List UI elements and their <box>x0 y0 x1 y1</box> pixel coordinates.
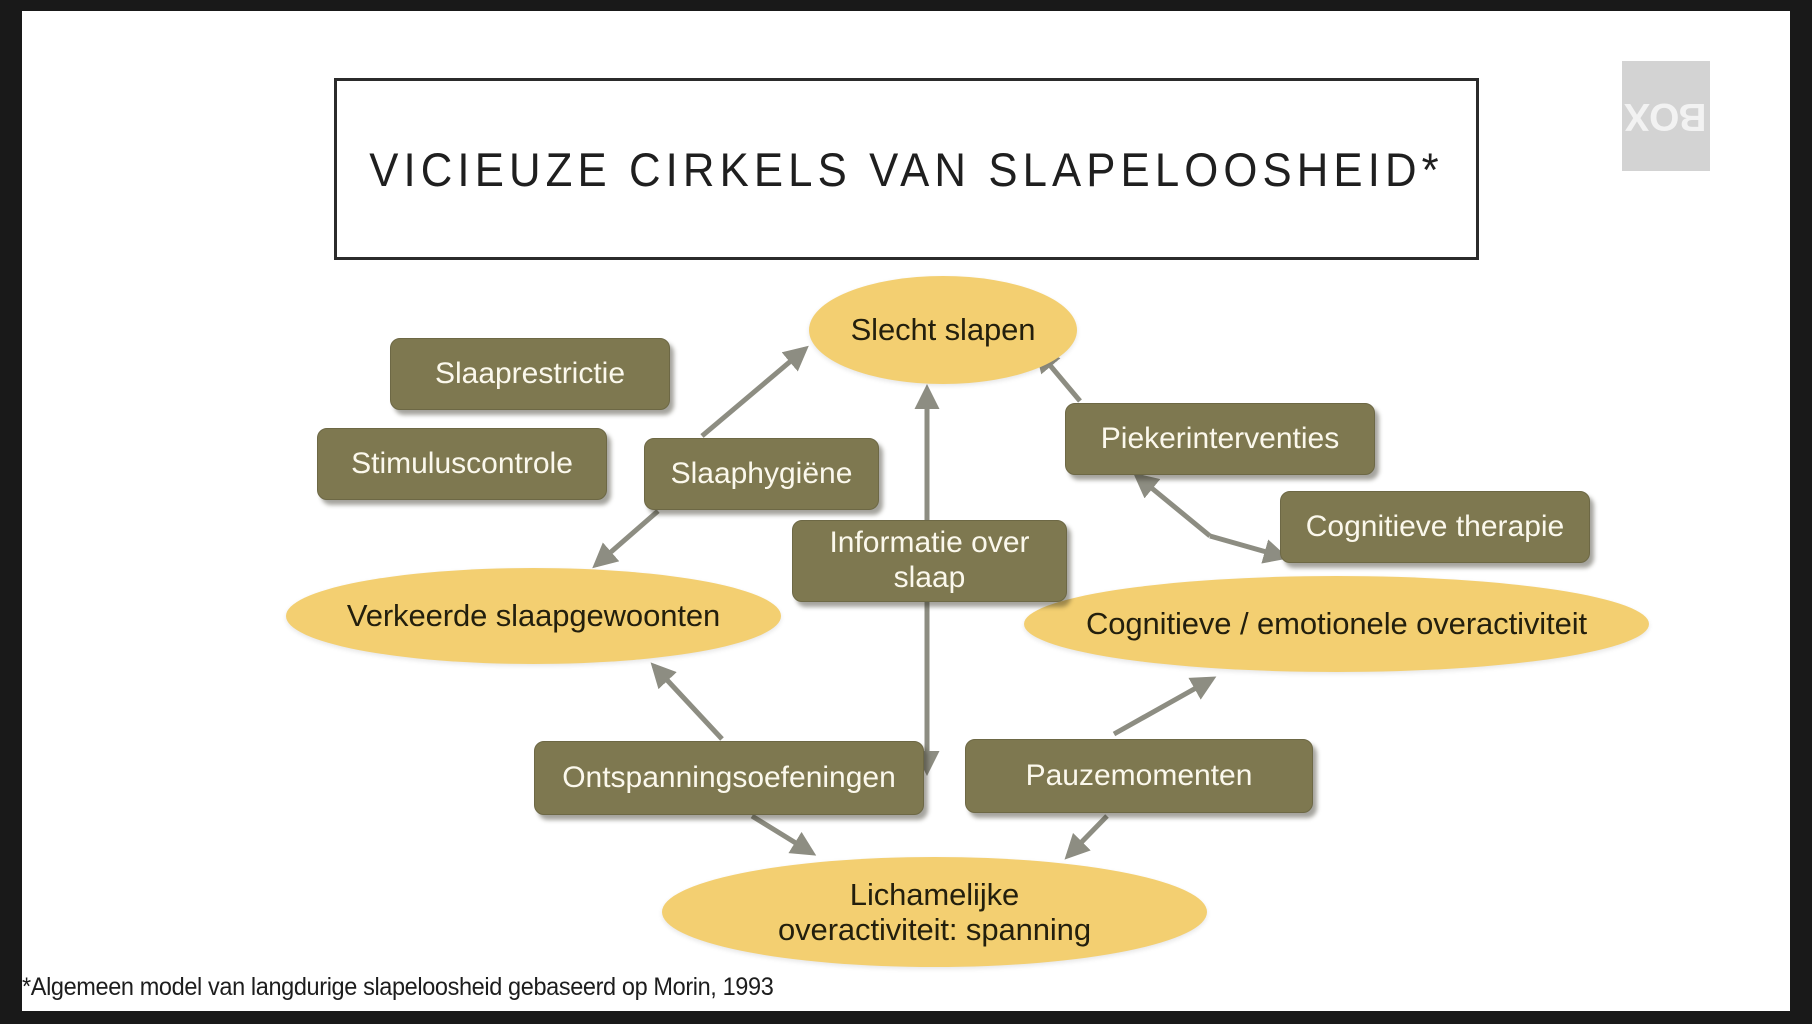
edge-ontspanning-lichamelijke <box>752 816 812 853</box>
node-label-line1: Informatie over <box>829 526 1029 559</box>
node-label: Cognitieve therapie <box>1306 510 1565 545</box>
node-label: Verkeerde slaapgewoonten <box>347 598 720 633</box>
node-label: Cognitieve / emotionele overactiviteit <box>1086 606 1587 641</box>
node-label-line2: slaap <box>894 561 966 594</box>
node-slaaphygiene[interactable]: Slaaphygiëne <box>644 438 879 510</box>
node-slecht-slapen[interactable]: Slecht slapen <box>809 276 1077 384</box>
node-slaaprestrictie[interactable]: Slaaprestrictie <box>390 338 670 410</box>
node-label-line2: overactiviteit: spanning <box>778 912 1091 947</box>
node-label: Informatie over slaap <box>829 526 1029 596</box>
node-informatie-over-slaap[interactable]: Informatie over slaap <box>792 520 1067 602</box>
node-ontspanningsoefeningen[interactable]: Ontspanningsoefeningen <box>534 741 924 815</box>
node-lichamelijke-overactiviteit[interactable]: Lichamelijke overactiviteit: spanning <box>662 857 1207 967</box>
slide-stage: VICIEUZE CIRKELS VAN SLAPELOOSHEID* BOX <box>0 0 1812 1024</box>
footnote: *Algemeen model van langdurige slapeloos… <box>22 973 773 1002</box>
node-label: Slecht slapen <box>851 312 1036 347</box>
logo-label: BOX <box>1625 97 1707 136</box>
node-piekerinterventies[interactable]: Piekerinterventies <box>1065 403 1375 475</box>
node-cognitieve-emotionele-overactiviteit[interactable]: Cognitieve / emotionele overactiviteit <box>1024 576 1649 672</box>
box-watermark-logo: BOX <box>1622 61 1710 171</box>
node-label: Lichamelijke overactiviteit: spanning <box>778 877 1091 948</box>
edge-pauzemomenten-overactiviteit <box>1114 679 1212 734</box>
edge-piekerinterventies-cognitieve-therapie <box>1137 476 1210 536</box>
edge-pauzemomenten-lichamelijke <box>1068 816 1107 856</box>
node-stimuluscontrole[interactable]: Stimuluscontrole <box>317 428 607 500</box>
edge-slaaphygiene-slecht-slapen <box>702 349 805 436</box>
title-frame: VICIEUZE CIRKELS VAN SLAPELOOSHEID* <box>334 78 1479 260</box>
node-label: Pauzemomenten <box>1026 759 1253 794</box>
edge-verkeerde-ontspanning <box>654 666 722 739</box>
page-title: VICIEUZE CIRKELS VAN SLAPELOOSHEID* <box>377 81 1436 257</box>
node-pauzemomenten[interactable]: Pauzemomenten <box>965 739 1313 813</box>
node-cognitieve-therapie[interactable]: Cognitieve therapie <box>1280 491 1590 563</box>
slide-canvas: VICIEUZE CIRKELS VAN SLAPELOOSHEID* BOX <box>22 11 1790 1011</box>
node-verkeerde-slaapgewoonten[interactable]: Verkeerde slaapgewoonten <box>286 568 781 664</box>
edge-cognitieve-therapie-overactiviteit <box>1210 536 1284 557</box>
node-label: Ontspanningsoefeningen <box>562 761 896 796</box>
node-label: Piekerinterventies <box>1101 422 1339 457</box>
node-label-line1: Lichamelijke <box>850 877 1019 912</box>
node-label: Stimuluscontrole <box>351 447 573 482</box>
edge-slaaphygiene-verkeerde <box>596 511 658 565</box>
node-label: Slaaphygiëne <box>671 457 853 492</box>
node-label: Slaaprestrictie <box>435 357 625 392</box>
